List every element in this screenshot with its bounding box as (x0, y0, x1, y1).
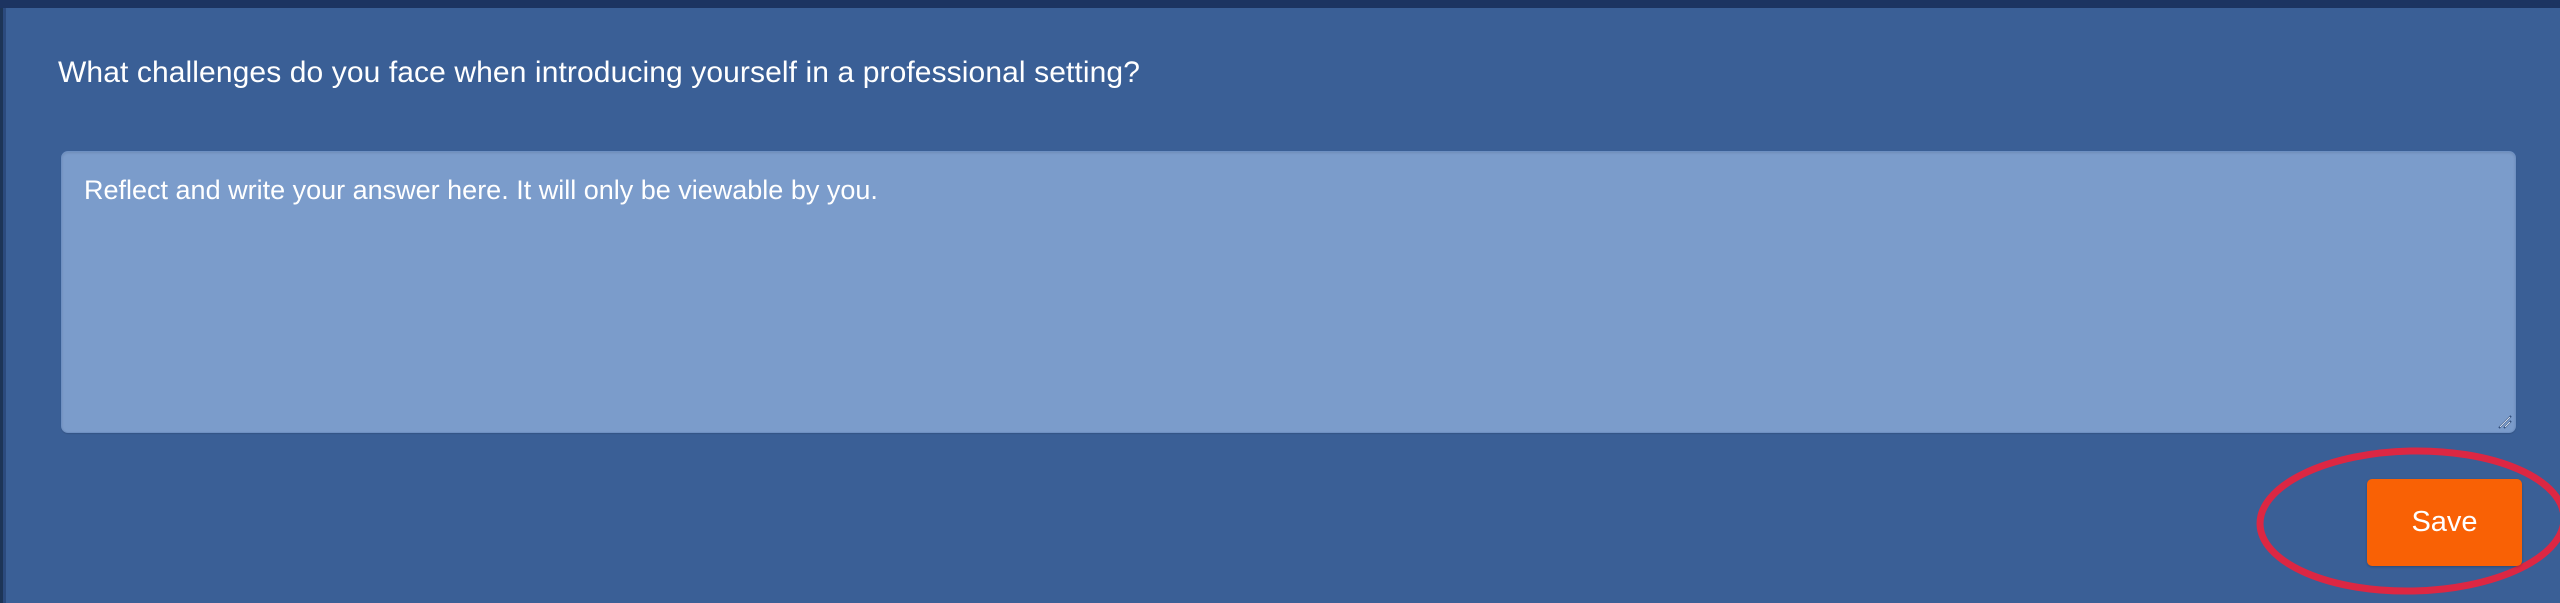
save-button[interactable]: Save (2367, 479, 2522, 566)
reflection-panel: What challenges do you face when introdu… (6, 8, 2560, 603)
page-title: What challenges do you face when introdu… (58, 54, 1140, 92)
window-top-bar (0, 0, 2560, 8)
reflection-answer-input[interactable] (61, 151, 2516, 433)
